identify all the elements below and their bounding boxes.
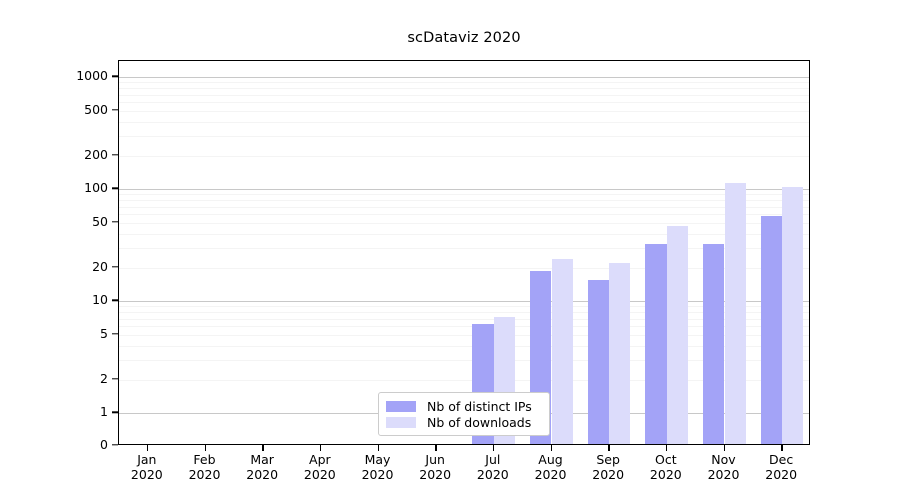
gridline-minor [119,194,809,195]
gridline-minor [119,102,809,103]
bar-ips-sep [588,280,609,444]
y-tick-mark [112,378,118,379]
gridline-minor [119,111,809,112]
gridline-minor [119,156,809,157]
bar-downloads-sep [609,263,630,444]
x-tick-month: Dec [741,452,821,467]
y-tick-label: 50 [8,216,108,229]
gridline-minor [119,136,809,137]
x-tick-mark [320,445,321,451]
bar-downloads-aug [552,259,573,444]
legend-swatch-ips [386,401,416,412]
y-tick-mark [112,444,118,445]
bar-downloads-nov [725,183,746,444]
gridline-minor [119,122,809,123]
chart-legend[interactable]: Nb of distinct IPs Nb of downloads [378,392,550,436]
y-tick-label: 200 [8,148,108,161]
bar-downloads-oct [667,226,688,444]
legend-item-ips[interactable]: Nb of distinct IPs [386,398,541,414]
gridline-minor [119,214,809,215]
y-tick-mark [112,300,118,301]
gridline-major [119,189,809,190]
y-tick-mark [112,154,118,155]
y-axis-tick-labels: 01251020501002005001000 [0,0,108,500]
y-tick-mark [112,109,118,110]
y-tick-label: 10 [8,294,108,307]
legend-swatch-downloads [386,417,416,428]
x-tick-mark [262,445,263,451]
y-tick-mark [112,221,118,222]
y-tick-label: 1000 [8,70,108,83]
gridline-minor [119,207,809,208]
x-tick-mark [781,445,782,451]
gridline-minor [119,200,809,201]
y-tick-mark [112,412,118,413]
gridline-minor [119,88,809,89]
x-tick-mark [551,445,552,451]
bar-ips-oct [645,244,666,444]
x-tick-mark [608,445,609,451]
bar-downloads-dec [782,187,803,444]
bar-ips-nov [703,244,724,444]
x-tick-mark [724,445,725,451]
plot-area [118,60,810,445]
y-tick-mark [112,266,118,267]
gridline-major [119,77,809,78]
x-tick-mark [378,445,379,451]
y-tick-label: 5 [8,328,108,341]
y-tick-label: 20 [8,260,108,273]
x-tick-mark [493,445,494,451]
y-tick-mark [112,76,118,77]
chart-title: scDataviz 2020 [118,30,810,46]
x-tick-year: 2020 [741,467,821,482]
gridline-minor [119,82,809,83]
legend-item-downloads[interactable]: Nb of downloads [386,414,541,430]
chart-figure: scDataviz 2020 01251020501002005001000 J… [0,0,900,500]
x-tick-mark [435,445,436,451]
gridline-minor [119,95,809,96]
x-tick-label: Dec2020 [741,452,821,483]
y-tick-mark [112,188,118,189]
legend-label-downloads: Nb of downloads [427,415,531,430]
x-tick-mark [205,445,206,451]
y-tick-label: 1 [8,406,108,419]
y-tick-label: 0 [8,439,108,452]
bar-ips-dec [761,216,782,444]
y-tick-label: 100 [8,182,108,195]
y-tick-mark [112,333,118,334]
y-tick-label: 500 [8,104,108,117]
gridline-minor [119,234,809,235]
x-tick-mark [666,445,667,451]
x-tick-mark [147,445,148,451]
legend-label-ips: Nb of distinct IPs [427,399,532,414]
y-tick-label: 2 [8,372,108,385]
gridline-minor [119,223,809,224]
